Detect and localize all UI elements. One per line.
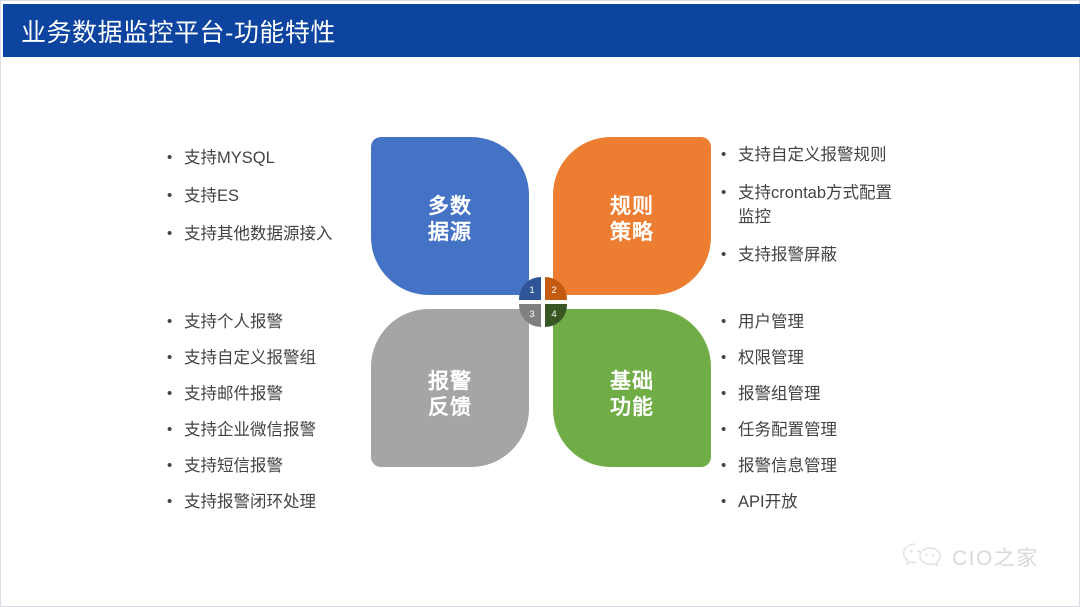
- list-item: 支持个人报警: [167, 311, 367, 335]
- footer-logo-text: CIO之家: [952, 542, 1039, 572]
- list-item: 支持报警屏蔽: [721, 244, 961, 268]
- list-item: 支持其他数据源接入: [167, 223, 367, 247]
- quadrant-badge-2: 2: [545, 277, 567, 300]
- list-item: 支持企业微信报警: [167, 419, 367, 443]
- list-item: 支持邮件报警: [167, 383, 367, 407]
- quadrant-label: 规则 策略: [610, 194, 654, 245]
- list-item: 支持短信报警: [167, 455, 367, 479]
- list-item: API开放: [721, 491, 961, 515]
- list-item: 任务配置管理: [721, 419, 961, 443]
- feature-list-rule-strategy: 支持自定义报警规则 支持crontab方式配置 监控 支持报警屏蔽: [721, 144, 961, 282]
- footer-watermark: CIO之家: [901, 541, 1039, 573]
- quadrant-label: 多数 据源: [428, 194, 472, 245]
- list-item: 支持crontab方式配置 监控: [721, 182, 961, 230]
- list-item: 权限管理: [721, 347, 961, 371]
- quadrant-data-sources[interactable]: 多数 据源: [371, 137, 529, 295]
- page-title: 业务数据监控平台-功能特性: [21, 13, 336, 49]
- list-item: 用户管理: [721, 311, 961, 335]
- wechat-icon: [901, 541, 943, 573]
- quadrant-label: 基础 功能: [610, 369, 654, 420]
- slide-canvas: 业务数据监控平台-功能特性 支持MYSQL 支持ES 支持其他数据源接入 支持自…: [0, 0, 1080, 607]
- quadrant-number-hub: 1 2 3 4: [519, 277, 567, 327]
- list-item: 报警组管理: [721, 383, 961, 407]
- quadrant-rule-strategy[interactable]: 规则 策略: [553, 137, 711, 295]
- list-item: 支持自定义报警组: [167, 347, 367, 371]
- feature-list-alert-feedback: 支持个人报警 支持自定义报警组 支持邮件报警 支持企业微信报警 支持短信报警 支…: [167, 311, 367, 527]
- feature-list-data-sources: 支持MYSQL 支持ES 支持其他数据源接入: [167, 147, 367, 261]
- quadrant-badge-4: 4: [545, 304, 567, 327]
- quadrant-alert-feedback[interactable]: 报警 反馈: [371, 309, 529, 467]
- quadrant-basic-functions[interactable]: 基础 功能: [553, 309, 711, 467]
- four-quadrant-diagram: 多数 据源 规则 策略 报警 反馈 基础 功能 1 2 3 4: [371, 137, 711, 467]
- list-item: 报警信息管理: [721, 455, 961, 479]
- quadrant-label: 报警 反馈: [428, 369, 472, 420]
- quadrant-badge-3: 3: [519, 304, 541, 327]
- quadrant-badge-1: 1: [519, 277, 541, 300]
- feature-list-basic-functions: 用户管理 权限管理 报警组管理 任务配置管理 报警信息管理 API开放: [721, 311, 961, 527]
- list-item: 支持ES: [167, 185, 367, 209]
- slide-header-bar: 业务数据监控平台-功能特性: [3, 4, 1080, 57]
- list-item: 支持报警闭环处理: [167, 491, 367, 515]
- list-item: 支持MYSQL: [167, 147, 367, 171]
- list-item: 支持自定义报警规则: [721, 144, 961, 168]
